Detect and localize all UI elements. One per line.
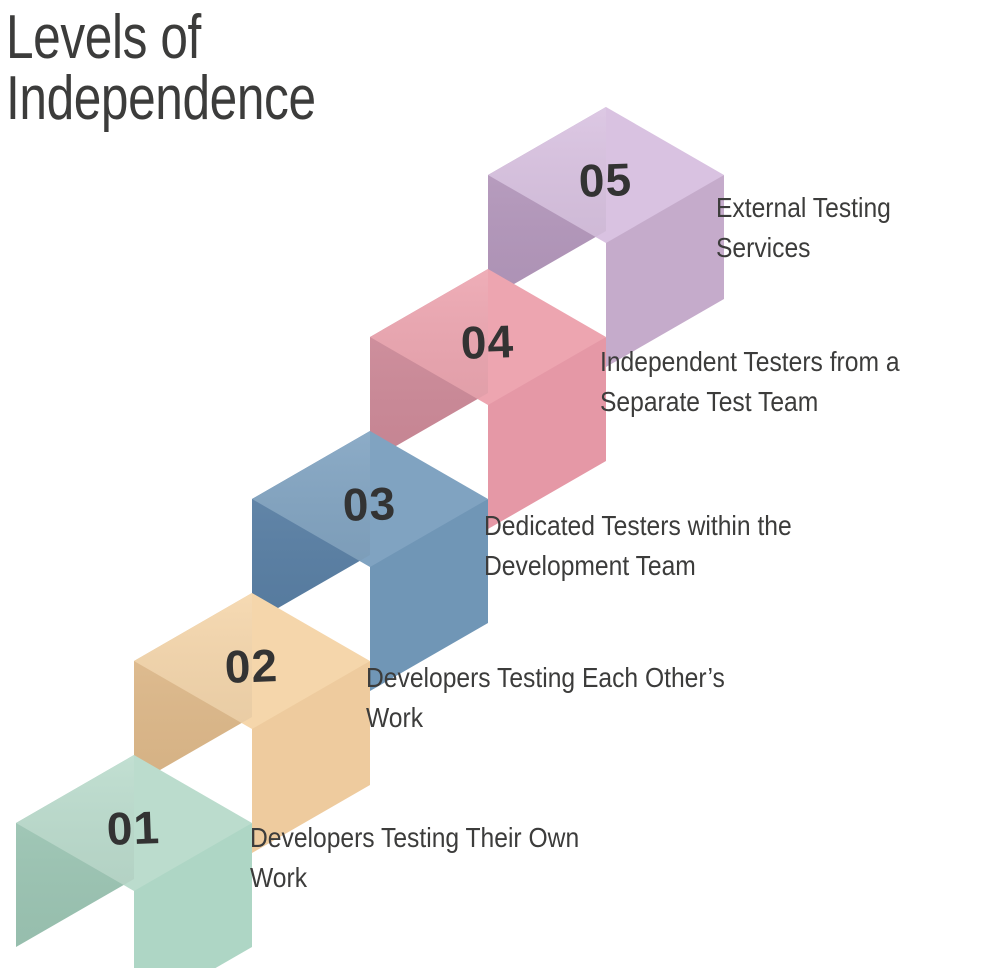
cube-number-01: 01 — [106, 801, 161, 855]
step-label-02: Developers Testing Each Other’s Work — [366, 658, 824, 738]
page-title: Levels of Independence — [6, 8, 382, 130]
cube-number-02: 02 — [224, 639, 279, 693]
cube-number-03: 03 — [342, 477, 397, 531]
cube-number-05: 05 — [578, 153, 633, 207]
step-label-01: Developers Testing Their Own Work — [250, 818, 672, 898]
cube-number-04: 04 — [460, 315, 515, 369]
step-label-03: Dedicated Testers within the Development… — [484, 506, 889, 586]
step-label-05: External Testing Services — [716, 188, 980, 268]
cube-step-01[interactable]: 01 — [16, 755, 252, 968]
step-label-04: Independent Testers from a Separate Test… — [600, 342, 995, 422]
infographic-canvas: Levels of Independence 05 04 — [0, 0, 995, 968]
